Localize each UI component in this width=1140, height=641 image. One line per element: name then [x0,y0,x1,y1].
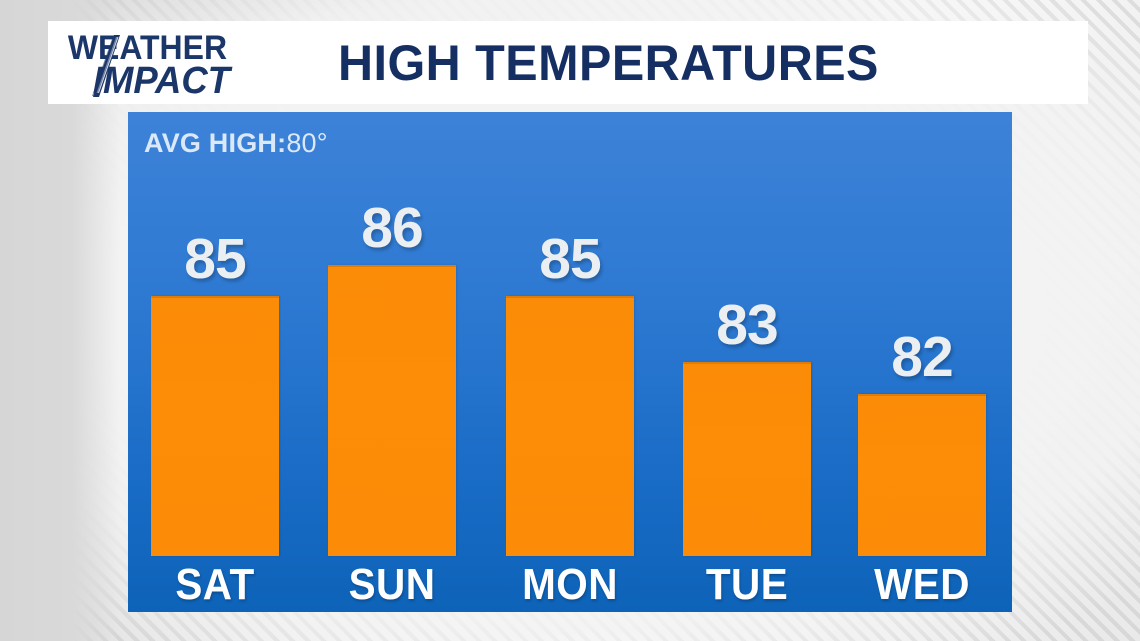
bar-value-sat: 85 [151,231,279,288]
bar-column-mon: 85 MON [506,112,634,612]
bar-label-mon: MON [504,562,636,608]
bar-label-sun: SUN [326,562,458,608]
bar-label-tue: TUE [681,562,813,608]
bar-label-sat: SAT [149,562,281,608]
bar-chart: 85 SAT 86 SUN 85 MON 83 TUE 82 [128,112,1012,612]
page-title: HIGH TEMPERATURES [338,34,879,92]
bar-rect-sat [151,296,279,556]
bar-rect-wed [858,394,986,556]
bar-rect-mon [506,296,634,556]
bar-column-sat: 85 SAT [151,112,279,612]
chart-panel: AVG HIGH:80° 85 SAT 86 SUN 85 MON 83 [128,112,1012,612]
bar-column-tue: 83 TUE [683,112,811,612]
bar-column-sun: 86 SUN [328,112,456,612]
bar-value-mon: 85 [506,231,634,288]
bar-value-wed: 82 [858,329,986,386]
weather-graphic: WEATHER IMPACT HIGH TEMPERATURES AVG HIG… [0,0,1140,641]
bar-rect-tue [683,362,811,556]
bar-label-wed: WED [856,562,988,608]
logo-line2: IMPACT [93,58,233,99]
weather-impact-logo: WEATHER IMPACT [66,27,276,99]
bar-rect-sun [328,265,456,556]
bar-column-wed: 82 WED [858,112,986,612]
bar-value-tue: 83 [683,297,811,354]
bar-value-sun: 86 [328,200,456,257]
